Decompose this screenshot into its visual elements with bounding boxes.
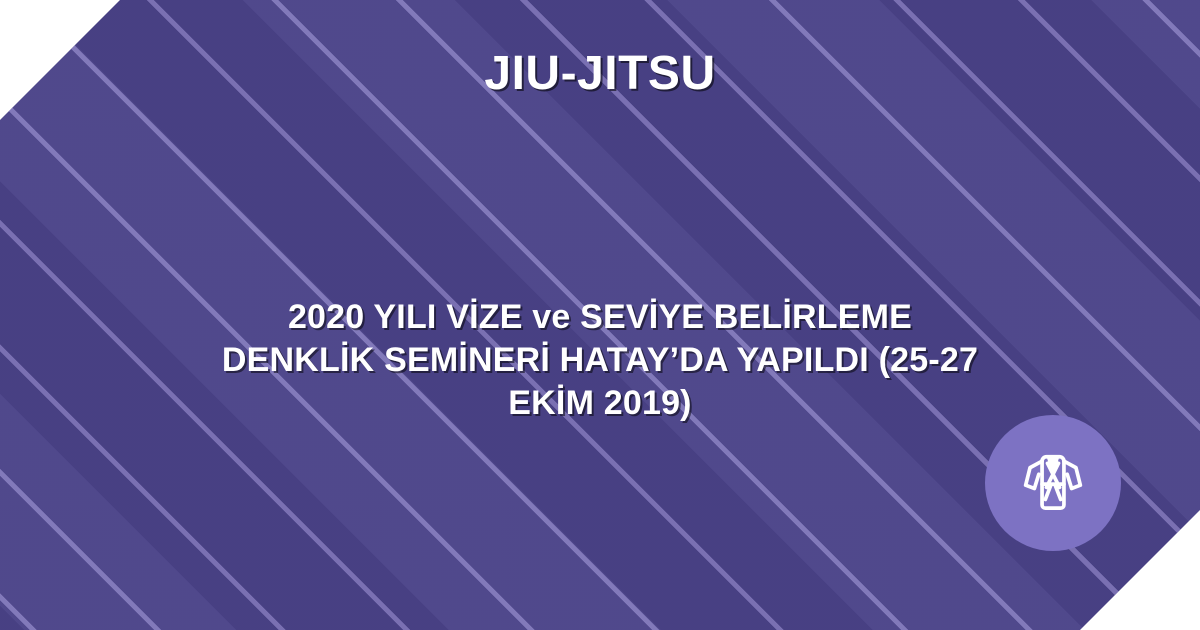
banner-card: JIU-JITSU 2020 YILI VİZE ve SEVİYE BELİR… xyxy=(0,0,1200,630)
category-badge xyxy=(985,415,1121,551)
site-title: JIU-JITSU xyxy=(0,48,1200,101)
headline-line-2: DENKLİK SEMİNERİ HATAY’DA YAPILDI (25-27 xyxy=(90,339,1110,382)
headline-line-1: 2020 YILI VİZE ve SEVİYE BELİRLEME xyxy=(90,296,1110,339)
headline-line-3: EKİM 2019) xyxy=(90,382,1110,425)
gi-uniform-icon xyxy=(1018,448,1088,518)
banner-content: JIU-JITSU 2020 YILI VİZE ve SEVİYE BELİR… xyxy=(0,0,1200,630)
headline: 2020 YILI VİZE ve SEVİYE BELİRLEME DENKL… xyxy=(90,296,1110,425)
